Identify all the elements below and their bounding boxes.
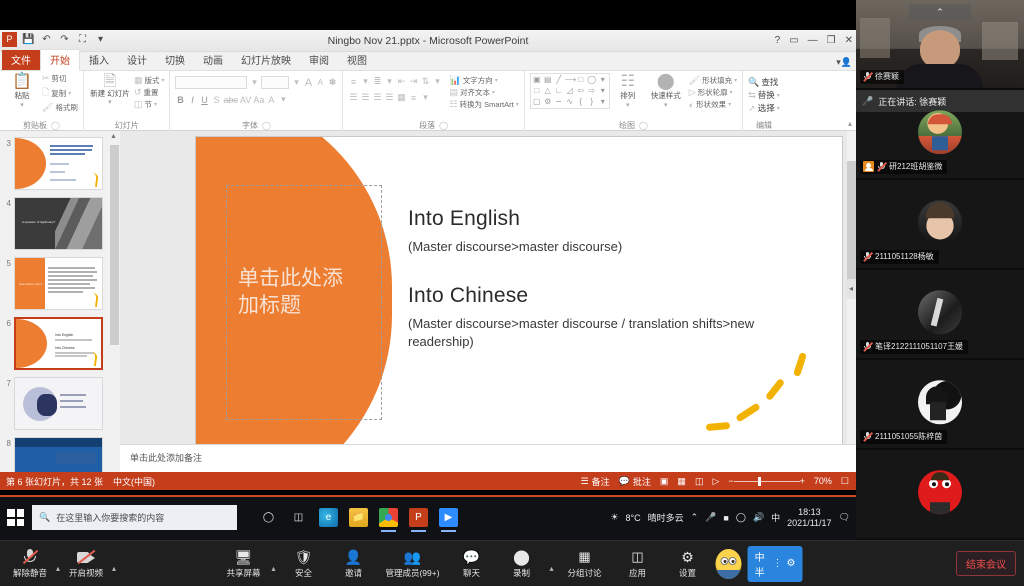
avatar	[918, 110, 962, 154]
slide-body-text[interactable]: Into English (Master discourse>master di…	[408, 207, 818, 351]
avatar	[918, 200, 962, 244]
search-icon: 🔍	[748, 77, 759, 88]
ribbon-group-clipboard: 📋 粘贴 ▾ ✂ 剪切 🗋 复制 ▾	[0, 71, 83, 131]
participant-name-2: 研212班胡鉴微	[860, 160, 947, 174]
paste-button[interactable]: 📋 粘贴 ▾	[5, 73, 39, 109]
redo-icon[interactable]: ↷	[58, 34, 71, 45]
language-indicator[interactable]: 中文(中国)	[113, 475, 155, 488]
participant-tile-4[interactable]: 笔译2122111051107王媛	[856, 270, 1024, 360]
copy-icon: 🗋	[42, 85, 49, 101]
thumbnail-preview: A question of legitimacy?	[14, 197, 103, 250]
group-label-clipboard: 剪贴板◯	[5, 120, 78, 131]
minion-avatar-icon	[716, 549, 742, 579]
shared-screen-stage: P 💾 ↶ ↷ ⛶ ▾ Ningbo Nov 21.pptx - Microso…	[0, 0, 856, 540]
system-tray: ☀ 8°C 晴时多云 ⌃ 🎤 ■ ◯ 🔊 中 18:13 2021/11/17 …	[610, 507, 850, 529]
slide-thumbnail-pane[interactable]: 3 4	[0, 131, 120, 490]
windows-taskbar: 🔍 在这里输入你要搜索的内容 ◯ ◫ e 📁 P ▶ ☀ 8°C 晴时多云 ⌃ …	[0, 495, 856, 540]
arrange-button[interactable]: ☷ 排列 ▾	[613, 73, 643, 109]
camera-off-icon	[77, 551, 95, 564]
zoom-in-button[interactable]: +	[800, 476, 805, 486]
apps-grid-icon: ◫	[631, 549, 643, 566]
mic-muted-icon	[22, 549, 38, 565]
participant-tile-3[interactable]: 2111051128杨敏	[856, 180, 1024, 270]
clock-date: 2021/11/17	[787, 518, 831, 529]
mic-icon[interactable]: 🎤	[705, 512, 716, 523]
breakout-rooms-button[interactable]: ▦ 分组讨论	[560, 549, 610, 579]
participant-name-3: 2111051128杨敏	[860, 250, 939, 264]
strikethrough-button[interactable]: abc	[223, 95, 238, 105]
collapse-strip-button[interactable]: ⌃	[909, 4, 971, 20]
dialog-launcher-icon[interactable]: ◯	[639, 121, 648, 130]
tray-chevron-icon[interactable]: ⌃	[691, 512, 699, 523]
thumbnail-scrollbar[interactable]: ▲ ▼	[110, 133, 119, 488]
apps-button[interactable]: ◫ 应用	[616, 549, 660, 579]
slide-sorter-icon[interactable]: ▦	[677, 476, 686, 487]
chrome-icon[interactable]	[379, 508, 398, 527]
clock-time: 18:13	[787, 507, 831, 518]
action-center-icon[interactable]: 🗨	[839, 512, 850, 523]
slide-indicator: 第 6 张幻灯片，共 12 张	[6, 475, 103, 488]
chat-bubble-icon: 💬	[463, 549, 480, 566]
text-direction-button[interactable]: 📊 文字方向 ▾	[449, 75, 518, 86]
font-size-dropdown-icon[interactable]: ▾	[291, 77, 301, 88]
ribbon-group-editing: 🔍 查找 ⇆ 替换 ▾ ➚ 选择 ▾	[742, 71, 785, 131]
avatar	[918, 470, 962, 514]
notes-button[interactable]: ☰ 备注	[581, 475, 610, 488]
ime-status-bar[interactable]: 中半 ⋮ ⚙	[748, 546, 803, 582]
pane-split-handle[interactable]: ◂	[846, 279, 856, 299]
slide-thumbnail-7[interactable]: 7	[2, 377, 116, 430]
align-right-icon[interactable]: ☰	[372, 92, 382, 103]
task-view-icon[interactable]: ◫	[289, 508, 308, 527]
align-text-button[interactable]: ▤ 对齐文本 ▾	[449, 87, 518, 98]
mic-muted-icon	[877, 162, 886, 171]
start-button[interactable]	[7, 509, 24, 526]
tab-view[interactable]: 视图	[338, 50, 376, 70]
font-color-button[interactable]: A	[266, 95, 276, 105]
font-size-input[interactable]	[261, 76, 289, 89]
participant-video-strip[interactable]: ⌃ 徐赛颖 🎤 正在讲话: 徐赛颖 研212班胡鉴微	[856, 0, 1024, 540]
zoom-control-toolbar: 解除静音 ▴ 开启视频 ▴ 🖥 共享屏幕 ▴ 🛡 安全	[0, 540, 1024, 585]
thumbnail-preview	[14, 137, 103, 190]
slideshow-icon[interactable]: ▷	[712, 476, 719, 487]
new-slide-icon: 🗎	[104, 73, 117, 90]
ime-menu-icon[interactable]: ⋮	[773, 558, 783, 569]
shape-fill-button[interactable]: 🖌 形状填充 ▾	[689, 75, 737, 86]
bullets-icon[interactable]: ≡	[348, 77, 358, 87]
zoom-slider[interactable]: − +	[728, 476, 805, 486]
ime-indicator[interactable]: 中	[771, 511, 780, 524]
ime-gear-icon[interactable]: ⚙	[787, 558, 796, 569]
yellow-dashed-curve-decoration	[706, 343, 816, 438]
heading-into-english: Into English	[408, 207, 818, 231]
participant-tile-6[interactable]	[856, 450, 1024, 540]
thumbnail-preview	[14, 377, 103, 430]
shape-effects-icon: ◐	[689, 100, 694, 110]
participant-tile-5[interactable]: 2111051055陈梓茵	[856, 360, 1024, 450]
shrink-font-button[interactable]: A	[315, 78, 325, 87]
slide-thumbnail-6[interactable]: 6 Into English Into Chinese	[2, 317, 116, 370]
participant-tile-2[interactable]: 🎤 正在讲话: 徐赛颖 研212班胡鉴微	[856, 90, 1024, 180]
cut-button[interactable]: ✂ 剪切	[42, 73, 78, 84]
slide-canvas-pane: 单击此处添 加标题 Into English (Master discourse…	[120, 131, 856, 490]
add-person-icon: 👤	[345, 549, 362, 566]
search-icon: 🔍	[39, 512, 50, 523]
notes-icon: ☰	[581, 476, 589, 487]
share-screen-icon: 🖥	[235, 549, 253, 566]
current-slide[interactable]: 单击此处添 加标题 Into English (Master discourse…	[196, 137, 842, 462]
shield-icon: 🛡	[295, 549, 313, 566]
dialog-launcher-icon[interactable]: ◯	[439, 121, 448, 130]
tab-animations[interactable]: 动画	[194, 50, 232, 70]
underline-button[interactable]: U	[199, 95, 209, 105]
active-speaker-banner: 🎤 正在讲话: 徐赛颖	[856, 90, 1024, 112]
audio-options-chevron-icon[interactable]: ▴	[56, 555, 60, 573]
format-painter-button[interactable]: 🖌 格式刷	[42, 102, 78, 113]
save-icon[interactable]: 💾	[22, 34, 35, 45]
group-label-editing: 编辑	[748, 120, 780, 131]
participant-tile-1[interactable]: ⌃ 徐赛颖	[856, 0, 1024, 90]
tab-home[interactable]: 开始	[40, 49, 80, 71]
italic-button[interactable]: I	[187, 95, 197, 105]
unmute-button[interactable]: 解除静音	[8, 549, 52, 579]
restore-button[interactable]: ❐	[827, 30, 836, 52]
window-title: Ningbo Nov 21.pptx - Microsoft PowerPoin…	[0, 30, 856, 52]
clear-format-icon[interactable]: ✽	[327, 77, 337, 88]
minimize-button[interactable]: —	[808, 30, 818, 52]
copy-button[interactable]: 🗋 复制 ▾	[42, 85, 78, 101]
heading-into-chinese: Into Chinese	[408, 284, 818, 308]
mic-muted-icon	[863, 432, 872, 441]
collapse-ribbon-icon[interactable]: ▴	[848, 119, 852, 128]
smartart-icon: ☷	[449, 99, 457, 110]
change-case-button[interactable]: Aa	[253, 95, 264, 105]
font-color-dropdown-icon[interactable]: ▾	[278, 94, 288, 105]
notes-pane[interactable]: 单击此处添加备注	[120, 444, 856, 472]
zoom-icon[interactable]: ▶	[439, 508, 458, 527]
share-options-chevron-icon[interactable]: ▴	[272, 555, 276, 573]
share-screen-button[interactable]: 🖥 共享屏幕	[222, 549, 266, 579]
start-video-button[interactable]: 开启视频	[64, 549, 108, 579]
replace-button[interactable]: ⇆ 替换 ▾	[748, 89, 780, 101]
quick-styles-button[interactable]: ⬤ 快速样式 ▾	[646, 73, 686, 109]
speaker-mic-icon: 🎤	[862, 96, 873, 107]
scissors-icon: ✂	[42, 73, 50, 84]
help-button[interactable]: ?	[775, 30, 781, 52]
increase-indent-icon[interactable]: ⇥	[408, 76, 418, 87]
layout-button[interactable]: ▦ 版式 ▾	[134, 75, 165, 86]
cursor-icon: ➚	[748, 103, 756, 114]
group-label-slides: 幻灯片	[89, 120, 165, 131]
present-icon[interactable]: ⛶	[76, 34, 89, 45]
breakout-rooms-icon: ▦	[578, 549, 590, 566]
taskbar-pinned-icons: ◯ ◫ e 📁 P ▶	[259, 508, 458, 527]
file-explorer-icon[interactable]: 📁	[349, 508, 368, 527]
record-circle-icon: ⬤	[513, 549, 530, 566]
quick-access-toolbar: P 💾 ↶ ↷ ⛶ ▾	[2, 32, 107, 47]
volume-icon[interactable]: 🔊	[753, 512, 764, 523]
weather-desc: 晴时多云	[648, 511, 684, 524]
quick-styles-icon: ⬤	[657, 73, 675, 90]
record-button[interactable]: ⬤ 录制	[500, 549, 544, 579]
tab-review[interactable]: 审阅	[300, 50, 338, 70]
title-placeholder-text[interactable]: 单击此处添 加标题	[238, 265, 388, 319]
tab-design[interactable]: 设计	[118, 50, 156, 70]
shape-fill-icon: 🖌	[689, 75, 700, 86]
paste-icon: 📋	[12, 73, 32, 90]
undo-icon[interactable]: ↶	[40, 34, 53, 45]
replace-icon: ⇆	[748, 90, 756, 101]
taskbar-search-input[interactable]: 🔍 在这里输入你要搜索的内容	[32, 505, 237, 530]
wifi-icon[interactable]: ◯	[736, 512, 746, 523]
end-meeting-button[interactable]: 结束会议	[956, 551, 1016, 576]
invite-button[interactable]: 👤 邀请	[332, 549, 376, 579]
align-text-icon: ▤	[449, 87, 458, 98]
layout-icon: ▦	[134, 75, 143, 86]
text-direction-icon: 📊	[449, 75, 460, 86]
more-icon[interactable]: ▾	[94, 34, 107, 45]
text-into-english: (Master discourse>master discourse)	[408, 238, 818, 256]
video-options-chevron-icon[interactable]: ▴	[112, 555, 116, 573]
host-badge-icon	[863, 161, 874, 172]
manage-participants-button[interactable]: 👥 管理成员(99+)	[382, 549, 444, 579]
find-button[interactable]: 🔍 查找	[748, 76, 780, 88]
weather-icon[interactable]: ☀	[610, 512, 618, 523]
tab-transitions[interactable]: 切换	[156, 50, 194, 70]
gear-icon: ⚙	[681, 549, 694, 566]
window-controls: ? ▭ — ❐ ✕	[775, 30, 853, 52]
powerpoint-icon[interactable]: P	[409, 508, 428, 527]
columns-icon[interactable]: ▦	[396, 92, 406, 103]
arrange-icon: ☷	[621, 73, 635, 90]
line-spacing-icon[interactable]: ⇅	[420, 76, 430, 87]
fit-slide-icon[interactable]: ☐	[841, 476, 849, 487]
clock[interactable]: 18:13 2021/11/17	[787, 507, 831, 529]
mic-muted-icon	[863, 252, 872, 261]
account-icon[interactable]: ▾👤	[836, 57, 852, 68]
tab-insert[interactable]: 插入	[80, 50, 118, 70]
reading-view-icon[interactable]: ◫	[695, 476, 704, 487]
slide-thumbnail-5[interactable]: 5 Speculative why?	[2, 257, 116, 310]
powerpoint-app-icon: P	[2, 32, 17, 47]
shape-effects-button[interactable]: ◐ 形状效果 ▾	[689, 99, 737, 110]
text-direction-small-icon[interactable]: ≡	[408, 93, 418, 103]
battery-icon[interactable]: ■	[723, 513, 728, 523]
powerpoint-status-bar: 第 6 张幻灯片，共 12 张 中文(中国) ☰ 备注 💬 批注 ▣ ▦ ◫	[0, 472, 856, 490]
font-name-dropdown-icon[interactable]: ▾	[249, 77, 259, 88]
edge-icon[interactable]: e	[319, 508, 338, 527]
avatar	[918, 380, 962, 424]
character-spacing-button[interactable]: AV	[240, 95, 251, 105]
bold-button[interactable]: B	[175, 95, 185, 105]
cortana-icon[interactable]: ◯	[259, 508, 278, 527]
participant-strip-scrollbar[interactable]	[856, 0, 860, 540]
powerpoint-title-bar: P 💾 ↶ ↷ ⛶ ▾ Ningbo Nov 21.pptx - Microso…	[0, 30, 856, 52]
weather-temp: 8°C	[626, 513, 641, 523]
zoom-level: 70%	[814, 476, 832, 486]
align-center-icon[interactable]: ☰	[360, 92, 370, 103]
tab-file[interactable]: 文件	[2, 50, 40, 70]
ribbon-group-font: ▾ ▾ A A ✽ B I U S	[169, 71, 342, 131]
record-options-chevron-icon[interactable]: ▴	[550, 555, 554, 573]
mic-muted-icon	[863, 72, 872, 81]
slide-thumbnail-3[interactable]: 3	[2, 137, 116, 190]
ribbon-group-drawing: ▣▤╱⟶□◯▾ □△∟◿⇦⇨▾ ▢⚙∼∿{}▾ ☷ 排列 ▾ ⬤ 快速样式	[524, 71, 742, 131]
people-icon: 👥	[404, 549, 421, 566]
convert-smartart-button[interactable]: ☷ 转换为 SmartArt ▾	[449, 99, 518, 110]
chat-button[interactable]: 💬 聊天	[450, 549, 494, 579]
shadow-button[interactable]: S	[211, 95, 221, 105]
new-slide-button[interactable]: 🗎 新建 幻灯片 ▾	[89, 73, 131, 106]
powerpoint-workspace: 3 4	[0, 131, 856, 490]
participant-name-5: 2111051055陈梓茵	[860, 430, 947, 444]
reset-icon: ↺	[134, 87, 142, 98]
dialog-launcher-icon[interactable]: ◯	[262, 121, 271, 130]
thumbnail-preview-current: Into English Into Chinese	[14, 317, 103, 370]
section-icon: ◫	[134, 99, 143, 110]
justify-icon[interactable]: ☰	[384, 92, 394, 103]
group-label-font: 字体◯	[175, 120, 337, 131]
mic-muted-icon	[863, 342, 872, 351]
group-label-paragraph: 段落◯	[348, 120, 518, 131]
ribbon-tab-bar: 文件 开始 插入 设计 切换 动画 幻灯片放映 审阅 视图 ▾👤	[0, 52, 856, 71]
align-left-icon[interactable]: ☰	[348, 92, 358, 103]
section-button[interactable]: ◫ 节 ▾	[134, 99, 165, 110]
ribbon: 📋 粘贴 ▾ ✂ 剪切 🗋 复制 ▾	[0, 71, 856, 131]
tab-slideshow[interactable]: 幻灯片放映	[232, 50, 300, 70]
numbering-icon[interactable]: ≣	[372, 76, 382, 87]
shape-outline-button[interactable]: ▷ 形状轮廓 ▾	[689, 87, 737, 98]
search-placeholder: 在这里输入你要搜索的内容	[56, 511, 164, 524]
font-name-input[interactable]	[175, 76, 247, 89]
comment-icon: 💬	[619, 476, 630, 487]
participant-name-1: 徐赛颖	[860, 70, 904, 84]
normal-view-icon[interactable]: ▣	[660, 476, 669, 487]
dialog-launcher-icon[interactable]: ◯	[51, 121, 60, 130]
shape-outline-icon: ▷	[689, 87, 696, 98]
close-button[interactable]: ✕	[845, 30, 853, 52]
ribbon-group-slides: 🗎 新建 幻灯片 ▾ ▦ 版式 ▾ ↺	[83, 71, 170, 131]
powerpoint-window: P 💾 ↶ ↷ ⛶ ▾ Ningbo Nov 21.pptx - Microso…	[0, 30, 856, 490]
group-label-drawing: 绘图◯	[530, 120, 737, 131]
settings-button[interactable]: ⚙ 设置	[666, 549, 710, 579]
shapes-gallery[interactable]: ▣▤╱⟶□◯▾ □△∟◿⇦⇨▾ ▢⚙∼∿{}▾	[530, 73, 610, 109]
select-button[interactable]: ➚ 选择 ▾	[748, 102, 780, 114]
grow-font-button[interactable]: A	[303, 77, 313, 89]
paintbrush-icon: 🖌	[42, 102, 53, 113]
ribbon-display-button[interactable]: ▭	[789, 30, 798, 52]
decrease-indent-icon[interactable]: ⇤	[396, 76, 406, 87]
zoom-meeting-window: P 💾 ↶ ↷ ⛶ ▾ Ningbo Nov 21.pptx - Microso…	[0, 0, 1024, 585]
participant-name-4: 笔译2122111051107王媛	[860, 340, 968, 354]
thumbnail-preview: Speculative why?	[14, 257, 103, 310]
comments-button[interactable]: 💬 批注	[619, 475, 651, 488]
reset-button[interactable]: ↺ 重置	[134, 87, 165, 98]
ribbon-group-paragraph: ≡▾ ≣▾ ⇤ ⇥ ⇅▾ ☰ ☰ ☰ ☰ ▦	[342, 71, 523, 131]
slide-thumbnail-4[interactable]: 4 A question of legitimacy?	[2, 197, 116, 250]
security-button[interactable]: 🛡 安全	[282, 549, 326, 579]
avatar	[918, 290, 962, 334]
